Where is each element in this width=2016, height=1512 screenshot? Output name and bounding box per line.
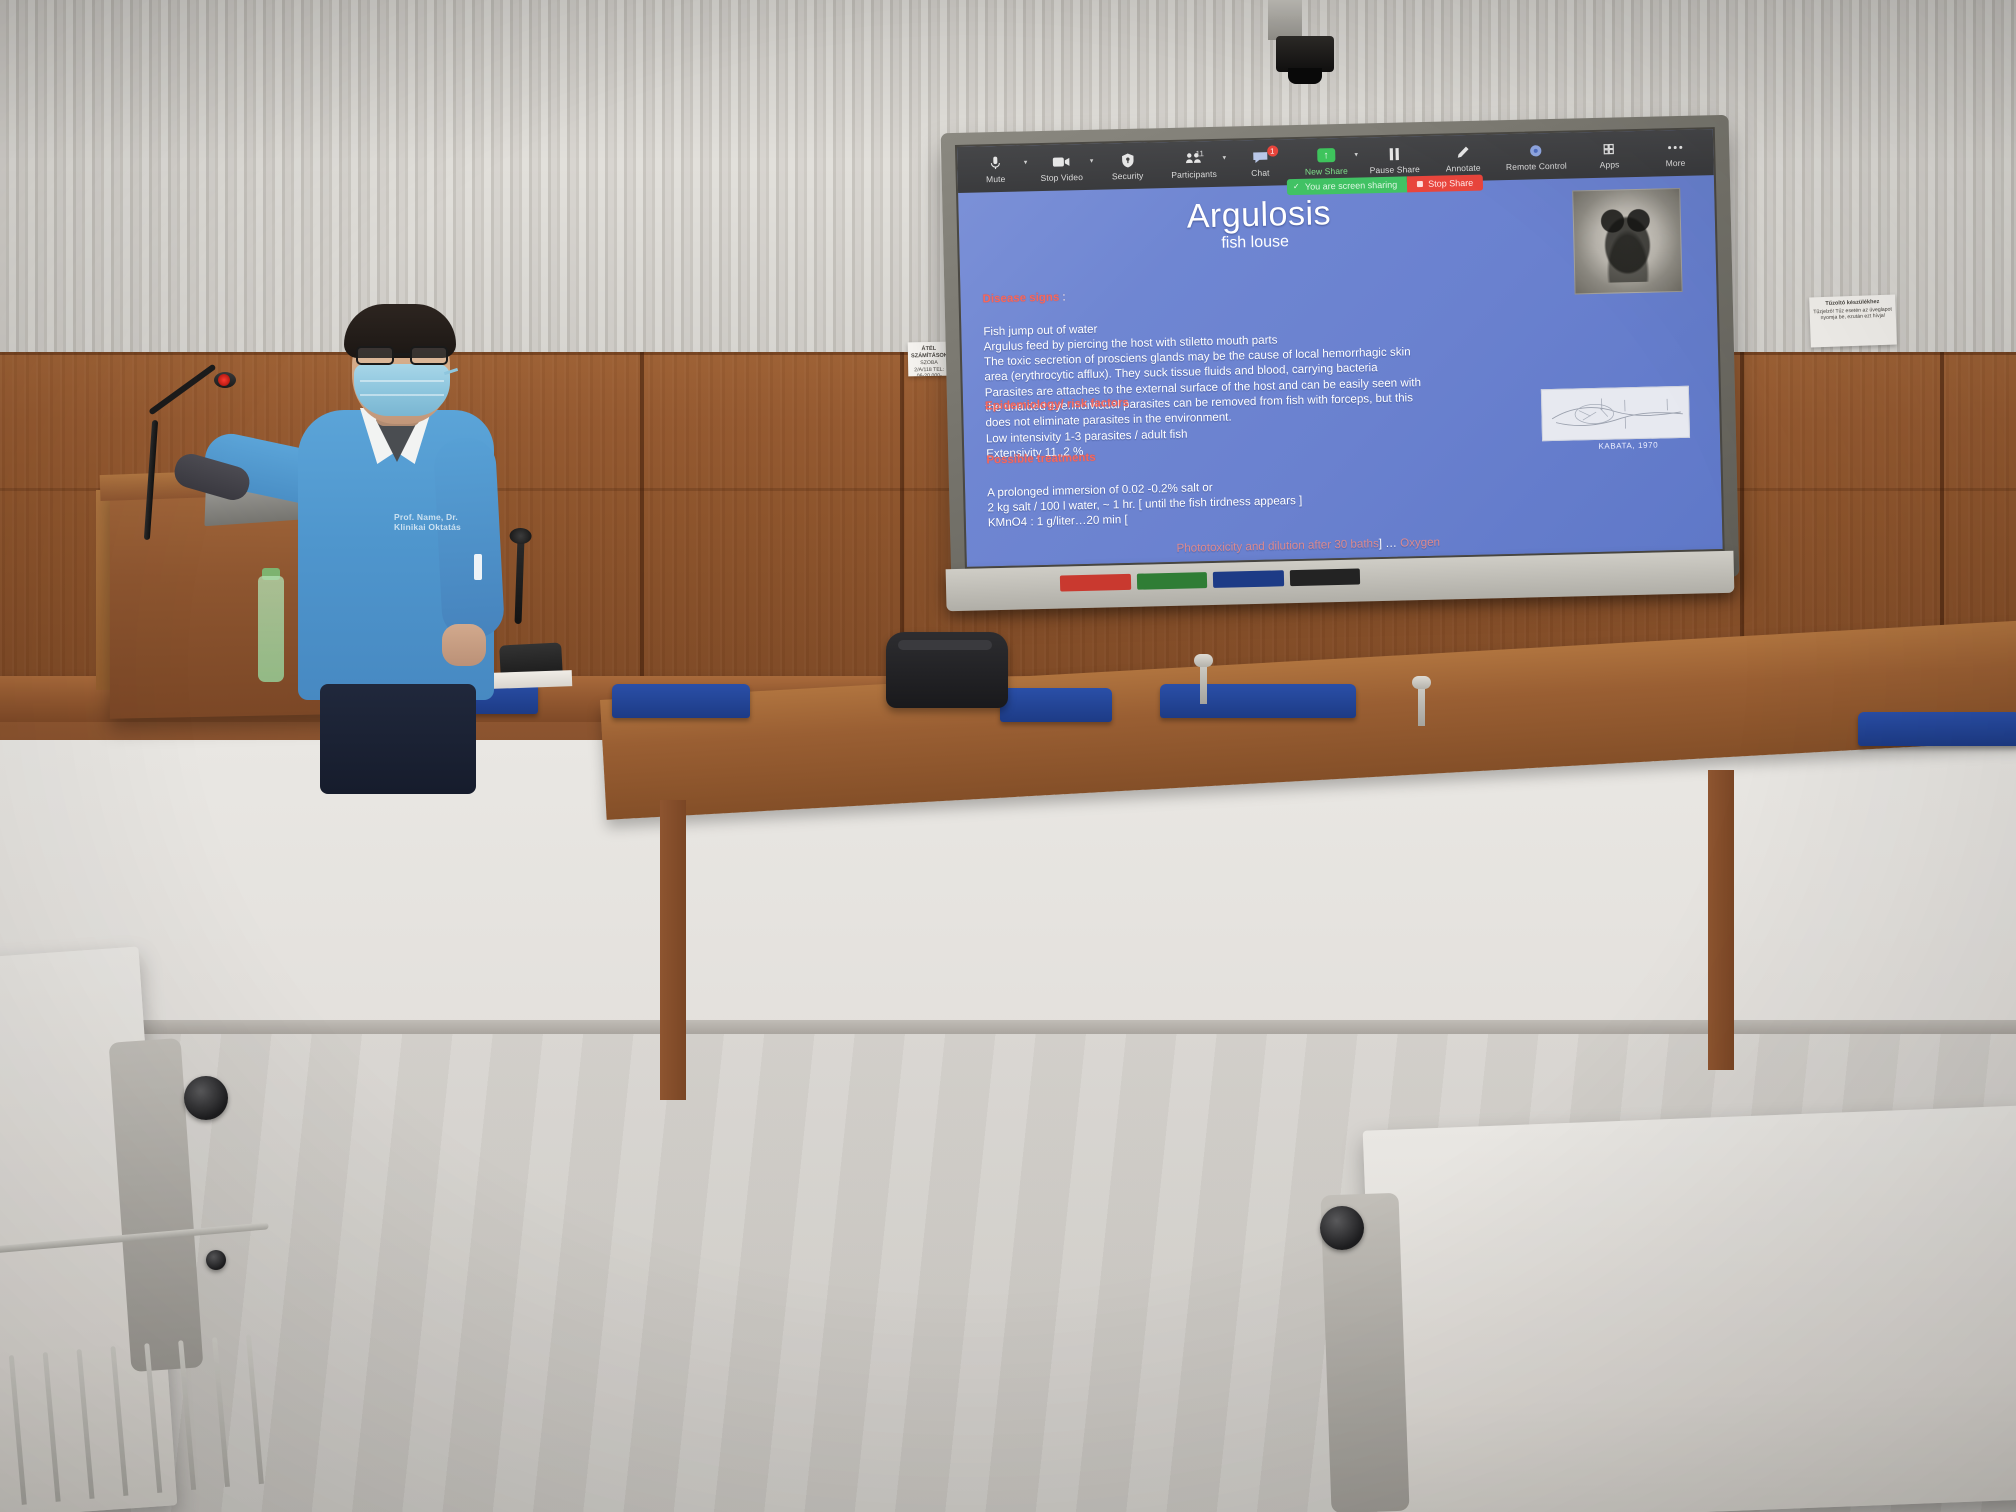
treatments-trailing-plain: ] … <box>1379 537 1401 550</box>
argulus-microscope-photo <box>1572 188 1682 295</box>
eyeglass-bridge <box>394 353 410 356</box>
eyeglass-lens-right <box>410 346 448 365</box>
desk-leg <box>1708 770 1734 1070</box>
embroidery-line-2: Klinikai Oktatás <box>394 522 472 532</box>
desk-leg <box>660 800 686 1100</box>
desk-microphone[interactable] <box>1200 662 1207 704</box>
section-heading-epidemiology: Epidemiology/ risk factors <box>985 390 1405 415</box>
audience-chair[interactable] <box>1160 684 1356 718</box>
slide-title: Argulosis <box>1186 194 1331 236</box>
desk-microphone[interactable] <box>1418 684 1425 726</box>
seat-pivot-knob[interactable] <box>184 1076 228 1120</box>
lecture-hall-scene: ÁTÉL SZÁMÍTÁSOK SZOBA 2/A/118 TEL: 06-20… <box>0 0 2016 1512</box>
presenter-trousers <box>320 684 476 794</box>
presenter-right-hand <box>442 624 486 666</box>
wall-sign-left: ÁTÉL SZÁMÍTÁSOK SZOBA 2/A/118 TEL: 06-20… <box>908 342 951 377</box>
pocket-pen <box>474 554 482 580</box>
wall-sign-left-lines: SZOBA 2/A/118 TEL: 06-20 000-0000 <box>914 360 944 376</box>
eyeglass-lens-left <box>356 346 394 365</box>
argulus-anatomy-diagram <box>1541 386 1690 441</box>
marker-blue[interactable] <box>1213 570 1284 588</box>
wall-sign-right-lines: Tűzjelző! Tűz esetén az üveglapot nyomja… <box>1813 306 1892 321</box>
shared-screen[interactable]: ▾ Mute ▾ Stop Video Security <box>955 127 1725 569</box>
audience-chair[interactable] <box>1000 688 1112 722</box>
treatments-trailing-faded: Phototoxicity and dilution after 30 bath… <box>1176 538 1379 556</box>
presentation-slide: Argulosis fish louse Disease signs : Fis… <box>957 129 1723 567</box>
section-body-treatments-trailing: Phototoxicity and dilution after 30 bath… <box>1176 519 1489 557</box>
wall-sign-right: Tűzoltó készülékhez Tűzjelző! Tűz esetén… <box>1809 295 1897 348</box>
presenter: Prof. Name, Dr. Klinikai Oktatás <box>286 312 506 732</box>
diagram-caption: KABATA, 1970 <box>1598 441 1658 451</box>
section-heading-treatments: Possible treatments <box>986 442 1486 469</box>
treatments-trailing-faded2: Oxygen <box>1400 536 1440 550</box>
presenter-chest-embroidery: Prof. Name, Dr. Klinikai Oktatás <box>394 512 472 532</box>
interactive-whiteboard[interactable]: ▾ Mute ▾ Stop Video Security <box>941 115 1740 595</box>
eyeglasses-icon <box>356 346 448 366</box>
marker-black[interactable] <box>1289 568 1360 586</box>
foreground-seat-right[interactable] <box>1363 1105 2016 1512</box>
argulus-specimen-shape <box>1590 200 1664 283</box>
presenter-right-arm <box>433 437 505 640</box>
camera-lens-icon <box>1288 68 1322 84</box>
face-mask-icon <box>354 364 450 416</box>
section-heading-text: Disease signs <box>982 292 1059 306</box>
marker-red[interactable] <box>1060 574 1131 592</box>
section-heading-suffix: : <box>1059 292 1066 304</box>
microphone-active-led-icon <box>218 374 230 386</box>
slide-section-treatments: Possible treatments A prolonged immersio… <box>986 427 1489 569</box>
embroidery-line-1: Prof. Name, Dr. <box>394 512 472 522</box>
diagram-drawing <box>1542 387 1689 440</box>
backpack-strap <box>898 640 992 650</box>
section-heading-disease-signs: Disease signs : <box>982 264 1543 308</box>
audience-chair[interactable] <box>1858 712 2016 746</box>
wood-seam <box>640 352 644 702</box>
ceiling-mount-pole <box>1268 0 1302 40</box>
audience-chair[interactable] <box>612 684 750 718</box>
wall-sign-left-title: ÁTÉL SZÁMÍTÁSOK <box>911 346 947 360</box>
water-bottle[interactable] <box>258 576 284 682</box>
wire-basket <box>0 1222 291 1505</box>
seat-pivot-knob[interactable] <box>1320 1206 1364 1250</box>
backpack[interactable] <box>886 632 1008 708</box>
marker-green[interactable] <box>1136 572 1207 590</box>
ceiling-camera-housing <box>1276 36 1334 72</box>
slide-subtitle: fish louse <box>1221 233 1289 253</box>
